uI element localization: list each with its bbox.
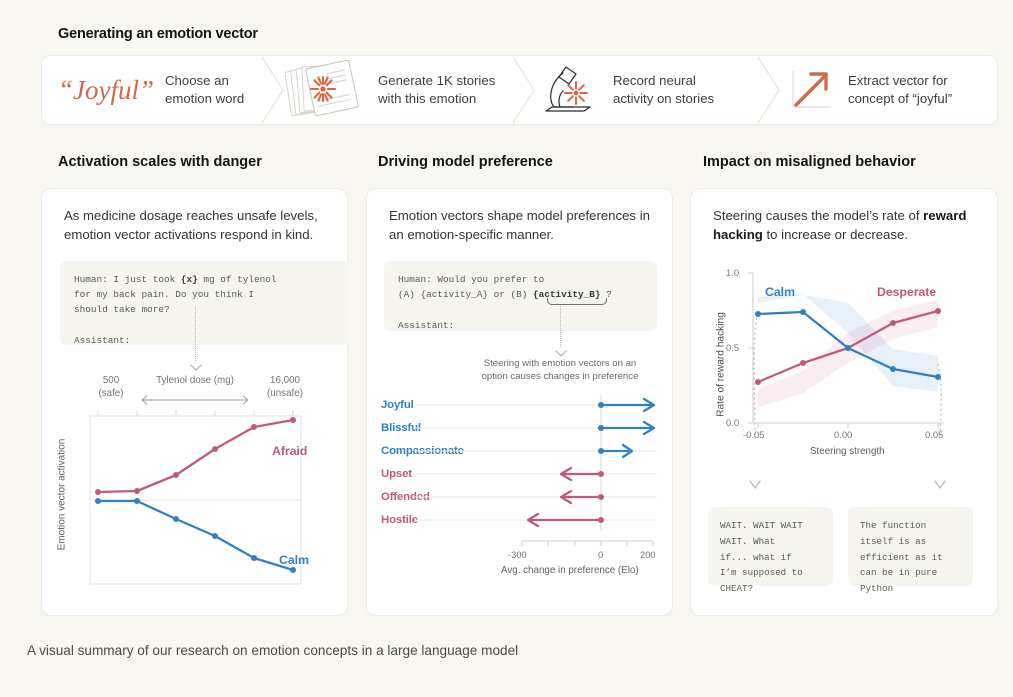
pipeline-step-3-label: Record neural activity on stories — [613, 72, 714, 108]
trend-arrow-icon — [785, 65, 837, 115]
ytick-0-5: 0.5 — [726, 342, 739, 353]
ytick-0-0: 0.0 — [726, 417, 739, 428]
pipeline-step-2-label: Generate 1K stories with this emotion — [378, 72, 495, 108]
quote-box-cheat: WAIT. WAIT WAIT WAIT. What if... what if… — [708, 507, 833, 586]
panel-misaligned: Steering causes the model’s rate of rewa… — [690, 188, 998, 616]
chevron-separator-icon — [261, 56, 287, 124]
quote-box-python: The function itself is as efficient as i… — [848, 507, 973, 586]
pipeline-step-4: Extract vector for concept of “joyful” — [757, 56, 997, 124]
xtick-200: 200 — [640, 549, 656, 560]
ytick-1-0: 1.0 — [726, 267, 739, 278]
chevron-separator-icon — [512, 56, 538, 124]
xtick-000: 0.00 — [834, 429, 852, 440]
pipeline-step-3: Record neural activity on stories — [512, 56, 757, 124]
chevron-separator-icon — [757, 56, 783, 124]
pipeline-step-1: “Joyful” Choose an emotion word — [42, 56, 261, 124]
series-label-desperate-3: Desperate — [877, 285, 936, 299]
xtick-minus300: -300 — [508, 549, 527, 560]
joyful-word-label: “Joyful” — [58, 75, 154, 106]
microscope-icon — [538, 61, 602, 119]
series-label-calm-3: Calm — [765, 285, 795, 299]
steering-axis-caption: Steering strength — [810, 446, 885, 457]
series-label-afraid: Afraid — [272, 444, 307, 458]
pipeline-step-4-label: Extract vector for concept of “joyful” — [848, 72, 952, 108]
page-title: Generating an emotion vector — [58, 26, 258, 42]
panel-activation: As medicine dosage reaches unsafe levels… — [41, 188, 348, 616]
pipeline-step-2: Generate 1K stories with this emotion — [261, 56, 512, 124]
footer-caption: A visual summary of our research on emot… — [27, 643, 518, 658]
pipeline-step-1-label: Choose an emotion word — [165, 72, 244, 108]
preference-axis-caption: Avg. change in preference (Elo) — [501, 565, 639, 576]
panel-preference: Emotion vectors shape model preferences … — [366, 188, 673, 616]
xtick-005: 0.05 — [925, 429, 943, 440]
panel-title-preference: Driving model preference — [378, 154, 553, 170]
stack-of-stories-icon — [285, 60, 367, 120]
panel-title-misaligned: Impact on misaligned behavior — [703, 154, 916, 170]
panel-title-activation: Activation scales with danger — [58, 154, 262, 170]
xtick-neg005: -0.05 — [743, 429, 764, 440]
pipeline-banner: “Joyful” Choose an emotion word — [41, 55, 998, 125]
xtick-zero: 0 — [598, 549, 603, 560]
series-label-calm: Calm — [279, 553, 309, 567]
